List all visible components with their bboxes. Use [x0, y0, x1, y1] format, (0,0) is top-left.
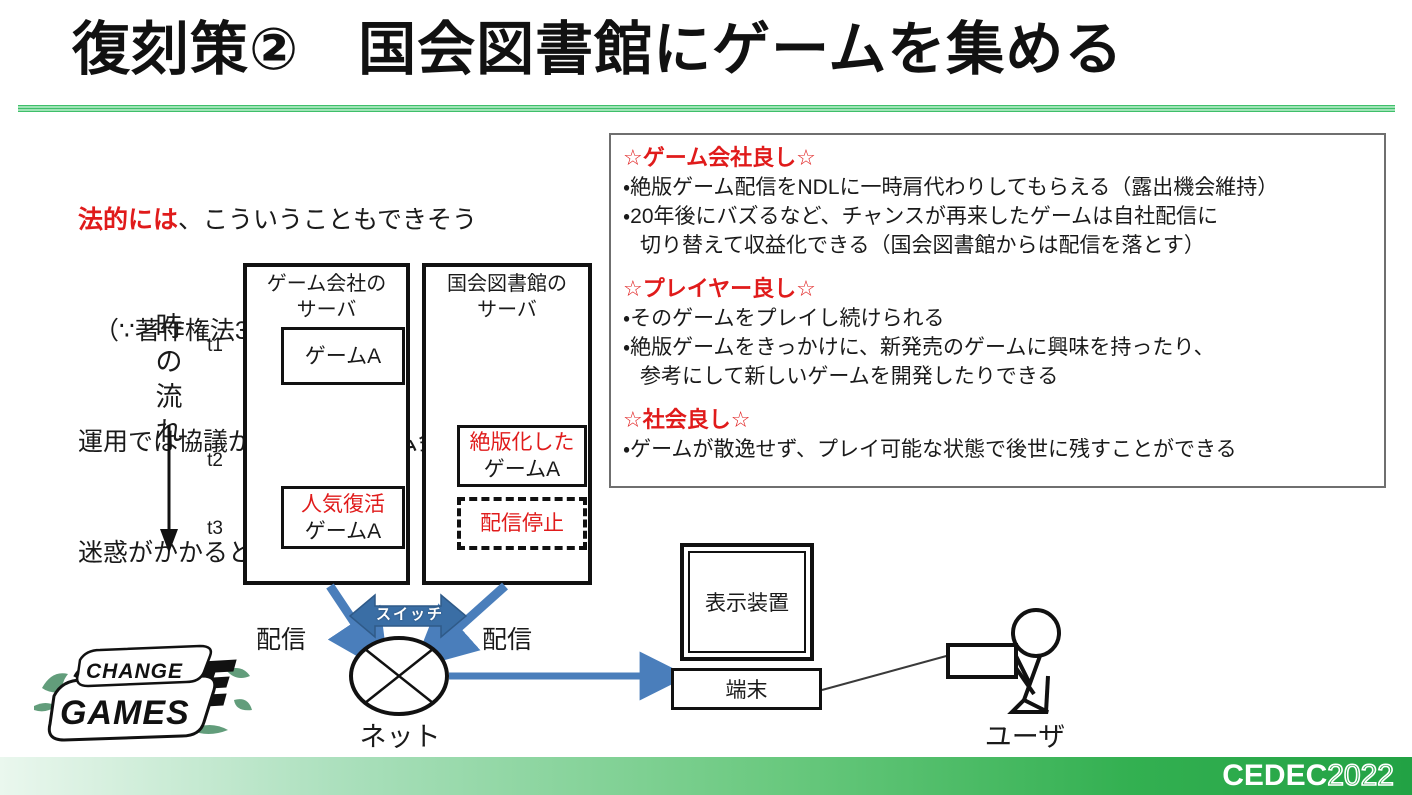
- label-user: ユーザ: [970, 715, 1080, 754]
- node-game-a-t1: ゲームA: [281, 327, 405, 385]
- time-tick-t1: t1: [198, 335, 232, 357]
- server-title-game-company: ゲーム会社の サーバ: [247, 271, 406, 323]
- node-game-a-revived-t3: 人気復活 ゲームA: [281, 486, 405, 549]
- benefit-line: ・絶版ゲーム配信をNDLに一時肩代わりしてもらえる（露出機会維持）: [623, 173, 1374, 202]
- node-game-a-out-of-print-t2: 絶版化した ゲームA: [457, 425, 587, 487]
- server-box-ndl: 国会図書館の サーバ 絶版化した ゲームA 配信停止: [422, 263, 592, 585]
- label-distribution-right: 配信: [482, 620, 532, 656]
- page-title: 復刻策② 国会図書館にゲームを集める: [72, 10, 1372, 90]
- node-label: ゲームA: [460, 456, 584, 483]
- benefits-panel: ☆ゲーム会社良し☆ ・絶版ゲーム配信をNDLに一時肩代わりしてもらえる（露出機会…: [609, 133, 1386, 488]
- benefit-heading: ☆社会良し☆: [623, 405, 1374, 435]
- time-axis-char: の: [152, 345, 186, 380]
- time-tick-t2: t2: [198, 450, 232, 472]
- label-switch: スイッチ: [365, 603, 455, 624]
- title-divider-rule: [18, 104, 1395, 113]
- benefit-line: ・20年後にバズるなど、チャンスが再来したゲームは自社配信に: [623, 202, 1374, 231]
- benefit-line: 切り替えて収益化できる（国会図書館からは配信を落とす）: [623, 231, 1374, 260]
- label-display-device: 表示装置: [688, 551, 806, 653]
- benefit-heading: ☆ゲーム会社良し☆: [623, 143, 1374, 173]
- benefit-line: ・ゲームが散逸せず、プレイ可能な状態で後世に残すことができる: [623, 435, 1374, 464]
- terminal-base: 端末: [671, 668, 822, 710]
- net-cloud-icon: [351, 638, 447, 714]
- benefit-block-society: ☆社会良し☆ ・ゲームが散逸せず、プレイ可能な状態で後世に残すことができる: [623, 405, 1374, 464]
- node-distribution-stopped-t3: 配信停止: [457, 497, 587, 550]
- node-label: ゲームA: [284, 343, 402, 370]
- cedec-year: 2022: [1327, 759, 1394, 793]
- cable-terminal-to-controller: [822, 655, 950, 690]
- node-label-red: 人気復活: [284, 491, 402, 518]
- server-title-ndl: 国会図書館の サーバ: [426, 271, 588, 323]
- lead-line-1-rest: 、こういうこともできそう: [178, 206, 477, 234]
- cedec-logo: CEDEC2022: [1222, 760, 1394, 792]
- svg-text:GAMES: GAMES: [60, 694, 190, 732]
- label-distribution-left: 配信: [256, 620, 306, 656]
- change-the-games-logo: GAMES CHANGE: [30, 636, 254, 750]
- node-label-red: 配信停止: [461, 510, 583, 537]
- benefit-line: 参考にして新しいゲームを開発したりできる: [623, 362, 1374, 391]
- benefit-block-game-company: ☆ゲーム会社良し☆ ・絶版ゲーム配信をNDLに一時肩代わりしてもらえる（露出機会…: [623, 143, 1374, 260]
- benefit-line: ・絶版ゲームをきっかけに、新発売のゲームに興味を持ったり、: [623, 333, 1374, 362]
- svg-text:CHANGE: CHANGE: [86, 660, 183, 683]
- time-axis-arrow-icon: [156, 425, 182, 555]
- lead-line-1: 法的には、こういうこともできそう: [78, 202, 598, 239]
- time-axis-char: 流: [152, 380, 186, 415]
- cedec-wordmark: CEDEC: [1222, 759, 1327, 793]
- footer-bar: [0, 757, 1412, 795]
- time-tick-t3: t3: [198, 518, 232, 540]
- benefit-line: ・そのゲームをプレイし続けられる: [623, 304, 1374, 333]
- server-box-game-company: ゲーム会社の サーバ ゲームA 人気復活 ゲームA: [243, 263, 410, 585]
- benefit-block-player: ☆プレイヤー良し☆ ・そのゲームをプレイし続けられる ・絶版ゲームをきっかけに、…: [623, 274, 1374, 391]
- user-stick-figure-icon: [948, 610, 1059, 712]
- terminal-monitor: 表示装置: [680, 543, 814, 661]
- node-label-red: 絶版化した: [460, 429, 584, 456]
- benefit-heading: ☆プレイヤー良し☆: [623, 274, 1374, 304]
- lead-highlight: 法的には: [78, 206, 178, 234]
- time-axis-char: 時: [152, 310, 186, 345]
- label-net: ネット: [348, 715, 452, 754]
- node-label: ゲームA: [284, 518, 402, 545]
